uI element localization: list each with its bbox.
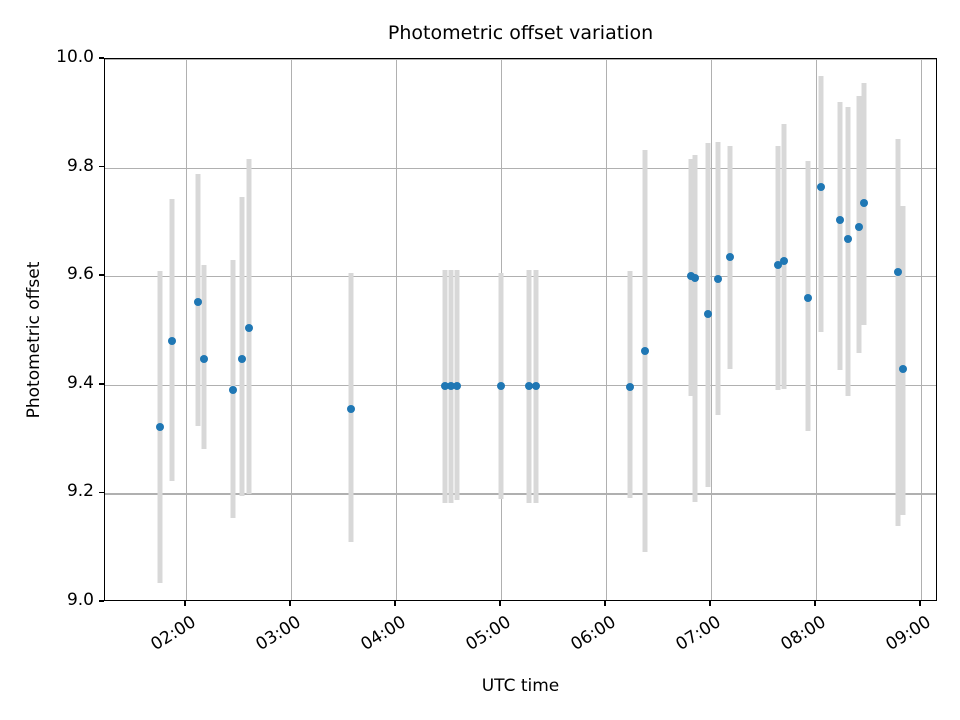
datapoint[interactable]: [532, 382, 540, 390]
datapoint[interactable]: [894, 268, 902, 276]
x-tick-mark-6: [814, 601, 816, 606]
datapoint[interactable]: [194, 298, 202, 306]
datapoint[interactable]: [497, 382, 505, 390]
x-tick-mark-1: [289, 601, 291, 606]
errorbar: [819, 76, 824, 331]
datapoint[interactable]: [899, 365, 907, 373]
y-tick-label-1: 9.2: [32, 483, 94, 500]
x-tick-label-5: 07:00: [667, 612, 725, 659]
y-tick-mark-2: [99, 383, 104, 385]
x-axis-label: UTC time: [104, 676, 937, 696]
errorbar: [845, 107, 850, 396]
x-tick-mark-7: [919, 601, 921, 606]
gridline-y-5: [105, 59, 936, 60]
errorbar: [901, 206, 906, 516]
datapoint[interactable]: [229, 386, 237, 394]
gridline-y-1: [105, 493, 936, 494]
datapoint[interactable]: [836, 216, 844, 224]
y-tick-label-5: 10.0: [32, 49, 94, 66]
datapoint[interactable]: [156, 423, 164, 431]
x-tick-mark-3: [499, 601, 501, 606]
datapoint[interactable]: [817, 183, 825, 191]
chart-title: Photometric offset variation: [104, 20, 937, 46]
x-tick-label-7: 09:00: [877, 612, 935, 659]
plot-area: [104, 58, 937, 601]
datapoint[interactable]: [726, 253, 734, 261]
datapoint[interactable]: [641, 347, 649, 355]
x-tick-mark-0: [184, 601, 186, 606]
x-tick-label-4: 06:00: [562, 612, 620, 659]
datapoint[interactable]: [844, 235, 852, 243]
datapoint[interactable]: [347, 405, 355, 413]
gridline-x-2: [396, 59, 397, 600]
errorbar: [693, 155, 698, 501]
datapoint[interactable]: [714, 275, 722, 283]
x-tick-mark-5: [709, 601, 711, 606]
y-axis-label: Photometric offset: [24, 210, 44, 470]
gridline-x-4: [606, 59, 607, 600]
errorbar: [239, 197, 244, 495]
datapoint[interactable]: [691, 274, 699, 282]
x-tick-label-1: 03:00: [246, 612, 304, 659]
gridline-x-0: [186, 59, 187, 600]
x-tick-label-0: 02:00: [141, 612, 199, 659]
y-tick-label-4: 9.8: [32, 158, 94, 175]
gridline-x-6: [816, 59, 817, 600]
gridline-x-7: [921, 59, 922, 600]
datapoint[interactable]: [238, 355, 246, 363]
x-tick-label-3: 05:00: [457, 612, 515, 659]
datapoint[interactable]: [780, 257, 788, 265]
y-tick-mark-1: [99, 492, 104, 494]
datapoint[interactable]: [804, 294, 812, 302]
datapoint[interactable]: [168, 337, 176, 345]
y-tick-mark-4: [99, 166, 104, 168]
datapoint[interactable]: [453, 382, 461, 390]
x-tick-mark-4: [604, 601, 606, 606]
y-tick-mark-5: [99, 57, 104, 59]
y-tick-mark-0: [99, 600, 104, 602]
errorbar: [896, 139, 901, 526]
gridline-y-2: [105, 385, 936, 386]
gridline-x-5: [711, 59, 712, 600]
datapoint[interactable]: [860, 199, 868, 207]
x-tick-label-2: 04:00: [351, 612, 409, 659]
y-tick-mark-3: [99, 274, 104, 276]
datapoint[interactable]: [200, 355, 208, 363]
x-tick-label-6: 08:00: [772, 612, 830, 659]
gridline-y-3: [105, 276, 936, 277]
datapoint[interactable]: [855, 223, 863, 231]
datapoint[interactable]: [704, 310, 712, 318]
datapoint[interactable]: [245, 324, 253, 332]
errorbar: [838, 102, 843, 369]
x-tick-mark-2: [394, 601, 396, 606]
gridline-x-1: [291, 59, 292, 600]
photometric-offset-chart-figure: Photometric offset variation 9.09.29.49.…: [0, 0, 960, 720]
gridline-y-4: [105, 168, 936, 169]
y-tick-label-0: 9.0: [32, 592, 94, 609]
datapoint[interactable]: [626, 383, 634, 391]
